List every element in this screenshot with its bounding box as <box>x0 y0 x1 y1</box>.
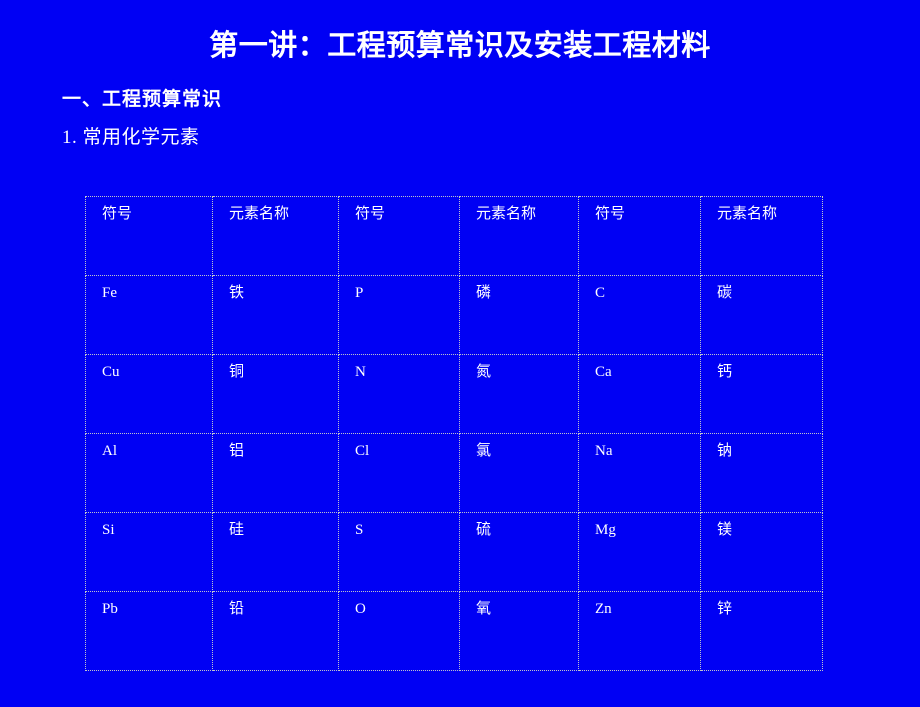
chemical-elements-table: 符号 元素名称 符号 元素名称 符号 元素名称 Fe 铁 P 磷 C 碳 Cu <box>85 196 823 671</box>
table-header-cell: 元素名称 <box>460 197 579 276</box>
section-heading-two: 1. 常用化学元素 <box>62 122 200 149</box>
cell-value: 硅 <box>229 522 338 539</box>
table-header-label: 元素名称 <box>476 206 578 223</box>
table-cell: 磷 <box>460 276 579 355</box>
cell-value: Cl <box>355 443 459 460</box>
table-header-cell: 元素名称 <box>213 197 339 276</box>
table-row: Pb 铅 O 氧 Zn 锌 <box>86 592 823 671</box>
table-header-label: 元素名称 <box>229 206 338 223</box>
table-cell: O <box>339 592 460 671</box>
table-row: Al 铝 Cl 氯 Na 钠 <box>86 434 823 513</box>
cell-value: 铜 <box>229 364 338 381</box>
table-header-cell: 符号 <box>579 197 701 276</box>
table-cell: N <box>339 355 460 434</box>
table-cell: 铝 <box>213 434 339 513</box>
cell-value: P <box>355 285 459 302</box>
cell-value: Si <box>102 522 212 539</box>
cell-value: Fe <box>102 285 212 302</box>
table-row: Fe 铁 P 磷 C 碳 <box>86 276 823 355</box>
section-heading-one: 一、工程预算常识 <box>62 84 222 111</box>
cell-value: O <box>355 601 459 618</box>
cell-value: 磷 <box>476 285 578 302</box>
cell-value: 氯 <box>476 443 578 460</box>
cell-value: 钠 <box>717 443 822 460</box>
page-title: 第一讲：工程预算常识及安装工程材料 <box>0 30 920 63</box>
table-cell: 碳 <box>701 276 823 355</box>
table-cell: 硅 <box>213 513 339 592</box>
table-cell: 铅 <box>213 592 339 671</box>
cell-value: 硫 <box>476 522 578 539</box>
cell-value: 锌 <box>717 601 822 618</box>
cell-value: Na <box>595 443 700 460</box>
table-cell: S <box>339 513 460 592</box>
table-cell: Zn <box>579 592 701 671</box>
table-cell: Ca <box>579 355 701 434</box>
table-cell: 镁 <box>701 513 823 592</box>
table-header-row: 符号 元素名称 符号 元素名称 符号 元素名称 <box>86 197 823 276</box>
table-cell: Pb <box>86 592 213 671</box>
table-cell: 氧 <box>460 592 579 671</box>
table-header-cell: 元素名称 <box>701 197 823 276</box>
cell-value: 钙 <box>717 364 822 381</box>
cell-value: N <box>355 364 459 381</box>
table-cell: Al <box>86 434 213 513</box>
table-row: Cu 铜 N 氮 Ca 钙 <box>86 355 823 434</box>
table-cell: 铜 <box>213 355 339 434</box>
table-cell: Na <box>579 434 701 513</box>
table-cell: Fe <box>86 276 213 355</box>
table-cell: C <box>579 276 701 355</box>
table-cell: 铁 <box>213 276 339 355</box>
cell-value: Pb <box>102 601 212 618</box>
table-cell: Si <box>86 513 213 592</box>
cell-value: 氧 <box>476 601 578 618</box>
table-header-label: 元素名称 <box>717 206 822 223</box>
cell-value: C <box>595 285 700 302</box>
cell-value: 镁 <box>717 522 822 539</box>
table-cell: 钙 <box>701 355 823 434</box>
table-header-label: 符号 <box>102 206 212 223</box>
cell-value: 氮 <box>476 364 578 381</box>
table-cell: 锌 <box>701 592 823 671</box>
table-header-cell: 符号 <box>86 197 213 276</box>
table-row: Si 硅 S 硫 Mg 镁 <box>86 513 823 592</box>
table-cell: 氯 <box>460 434 579 513</box>
table-header-label: 符号 <box>355 206 459 223</box>
table-cell: 氮 <box>460 355 579 434</box>
chemical-elements-table-container: 符号 元素名称 符号 元素名称 符号 元素名称 Fe 铁 P 磷 C 碳 Cu <box>85 196 822 612</box>
table-cell: P <box>339 276 460 355</box>
cell-value: 铝 <box>229 443 338 460</box>
table-cell: Cl <box>339 434 460 513</box>
table-cell: Mg <box>579 513 701 592</box>
slide-canvas: 第一讲：工程预算常识及安装工程材料 一、工程预算常识 1. 常用化学元素 符号 … <box>0 0 920 707</box>
table-header-label: 符号 <box>595 206 700 223</box>
table-cell: 硫 <box>460 513 579 592</box>
cell-value: Zn <box>595 601 700 618</box>
cell-value: 铅 <box>229 601 338 618</box>
cell-value: Mg <box>595 522 700 539</box>
cell-value: Ca <box>595 364 700 381</box>
cell-value: Cu <box>102 364 212 381</box>
cell-value: 碳 <box>717 285 822 302</box>
cell-value: 铁 <box>229 285 338 302</box>
table-cell: 钠 <box>701 434 823 513</box>
table-cell: Cu <box>86 355 213 434</box>
table-header-cell: 符号 <box>339 197 460 276</box>
cell-value: S <box>355 522 459 539</box>
cell-value: Al <box>102 443 212 460</box>
